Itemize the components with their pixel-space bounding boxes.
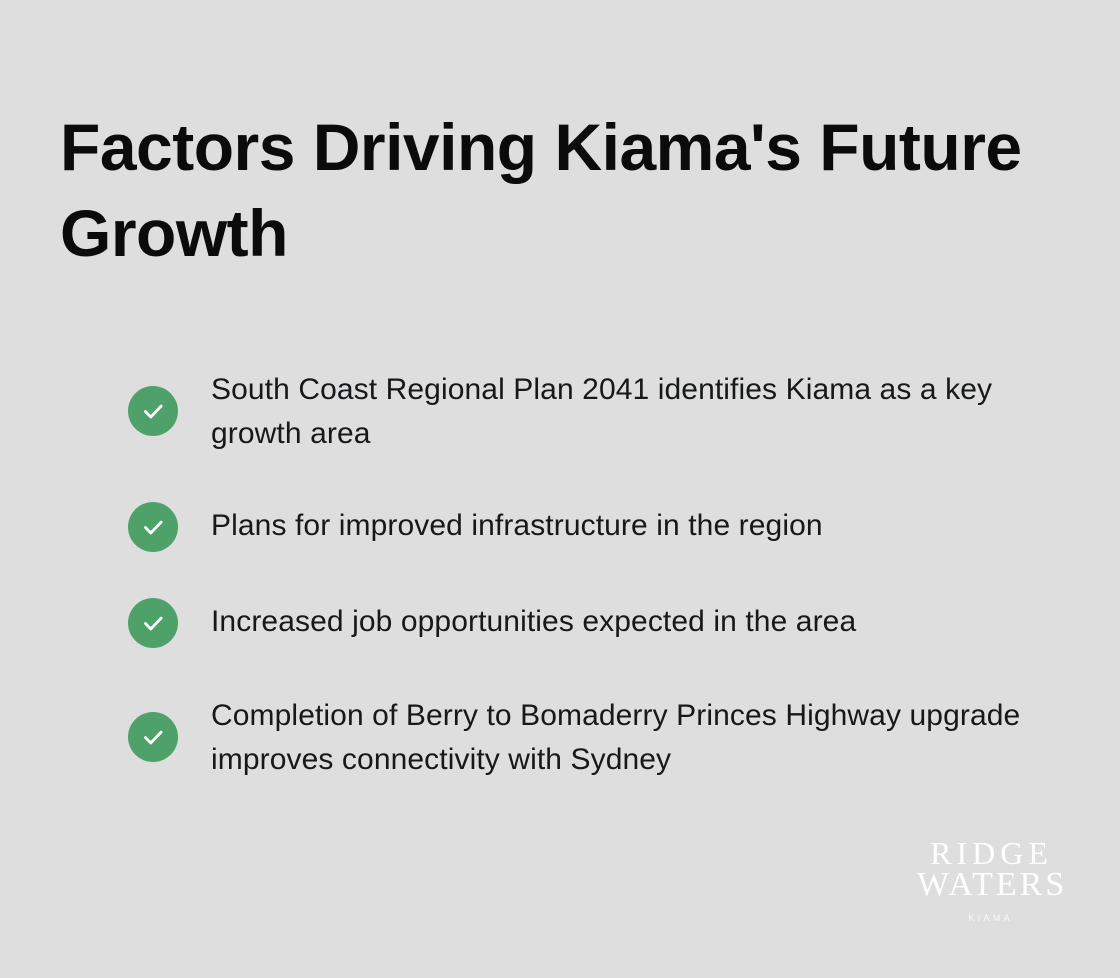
check-circle-icon bbox=[128, 386, 178, 436]
page-title: Factors Driving Kiama's Future Growth bbox=[60, 104, 1060, 276]
list-item-label: Increased job opportunities expected in … bbox=[211, 598, 1028, 644]
check-circle-icon bbox=[128, 598, 178, 648]
brand-logo-line-1: RIDGE bbox=[914, 836, 1064, 870]
slide-canvas: Factors Driving Kiama's Future Growth So… bbox=[0, 0, 1120, 978]
list-item: Plans for improved infrastructure in the… bbox=[128, 502, 1028, 552]
list-item-label: Completion of Berry to Bomaderry Princes… bbox=[211, 694, 1028, 782]
brand-logo-line-2: WATERS bbox=[914, 867, 1064, 903]
list-item: Completion of Berry to Bomaderry Princes… bbox=[128, 694, 1028, 782]
list-item-label: Plans for improved infrastructure in the… bbox=[211, 502, 1028, 548]
brand-logo-subtitle: KIAMA bbox=[914, 912, 1064, 924]
check-circle-icon bbox=[128, 502, 178, 552]
factors-bullet-list: South Coast Regional Plan 2041 identifie… bbox=[128, 368, 1028, 782]
list-item-label: South Coast Regional Plan 2041 identifie… bbox=[211, 368, 1028, 456]
list-item: Increased job opportunities expected in … bbox=[128, 598, 1028, 648]
brand-logo: RIDGE WATERS KIAMA bbox=[914, 836, 1064, 924]
check-circle-icon bbox=[128, 712, 178, 762]
list-item: South Coast Regional Plan 2041 identifie… bbox=[128, 368, 1028, 456]
